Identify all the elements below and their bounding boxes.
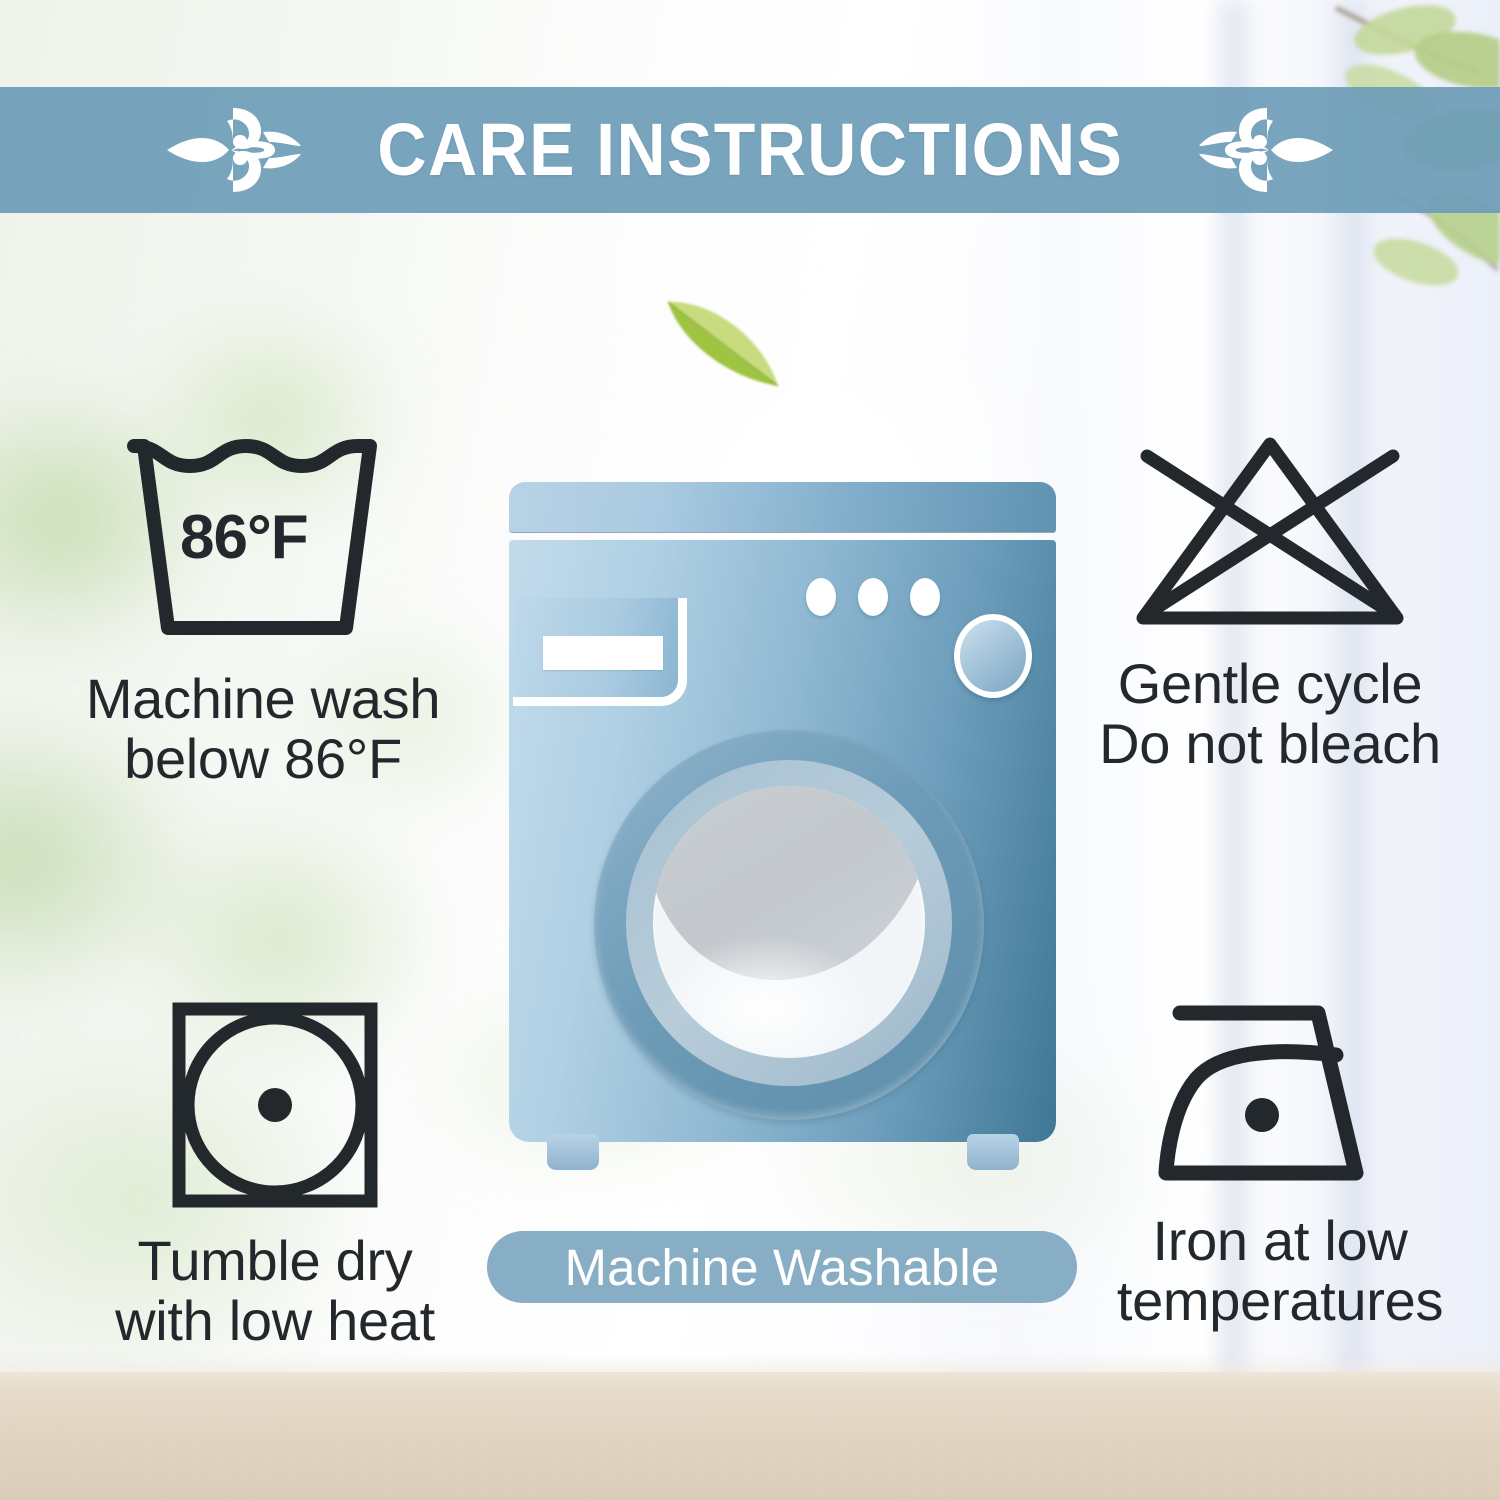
care-symbol-caption: Machine wash below 86°F — [86, 669, 440, 789]
indicator-light — [806, 578, 836, 616]
detergent-drawer — [513, 598, 687, 706]
washer-door — [594, 730, 984, 1120]
fleur-de-lis-ornament-left — [161, 102, 311, 198]
machine-washable-badge: Machine Washable — [487, 1231, 1077, 1303]
header-banner: CARE INSTRUCTIONS — [0, 87, 1500, 213]
washer-door-ring — [626, 760, 952, 1086]
wash-tub-icon: 86°F — [118, 432, 408, 647]
indicator-light — [910, 578, 940, 616]
iron-low-heat-icon — [1150, 995, 1410, 1195]
washer-top-lid — [509, 482, 1056, 532]
washing-machine-illustration — [505, 482, 1060, 1162]
washer-door-glass — [653, 786, 925, 1058]
badge-label: Machine Washable — [564, 1242, 999, 1293]
washer-foot — [967, 1134, 1019, 1170]
care-instructions-graphic: CARE INSTRUCTIONS 86°F Machine wash belo… — [0, 0, 1500, 1500]
washer-body — [509, 540, 1056, 1142]
care-symbol-caption: Tumble dry with low heat — [115, 1231, 435, 1351]
indicator-light — [858, 578, 888, 616]
control-knob — [954, 614, 1032, 698]
crossed-triangle-icon — [1125, 432, 1415, 632]
care-symbol-machine-wash: 86°F Machine wash below 86°F — [48, 432, 478, 789]
care-symbol-do-not-bleach: Gentle cycle Do not bleach — [1050, 432, 1490, 774]
fleur-de-lis-ornament-right — [1189, 102, 1339, 198]
page-title: CARE INSTRUCTIONS — [377, 113, 1123, 187]
care-symbol-iron: Iron at low temperatures — [1060, 995, 1500, 1331]
door-glass-highlight — [665, 896, 915, 1056]
care-symbol-tumble-dry: Tumble dry with low heat — [60, 995, 490, 1351]
leaf-icon — [658, 282, 788, 392]
wood-grain-texture — [0, 1372, 1500, 1500]
wash-temperature-label: 86°F — [180, 502, 308, 573]
tumble-dry-low-icon — [165, 995, 385, 1215]
washer-foot — [547, 1134, 599, 1170]
care-symbol-caption: Iron at low temperatures — [1117, 1211, 1443, 1331]
care-symbol-caption: Gentle cycle Do not bleach — [1099, 654, 1441, 774]
detergent-drawer-slot — [543, 636, 663, 670]
